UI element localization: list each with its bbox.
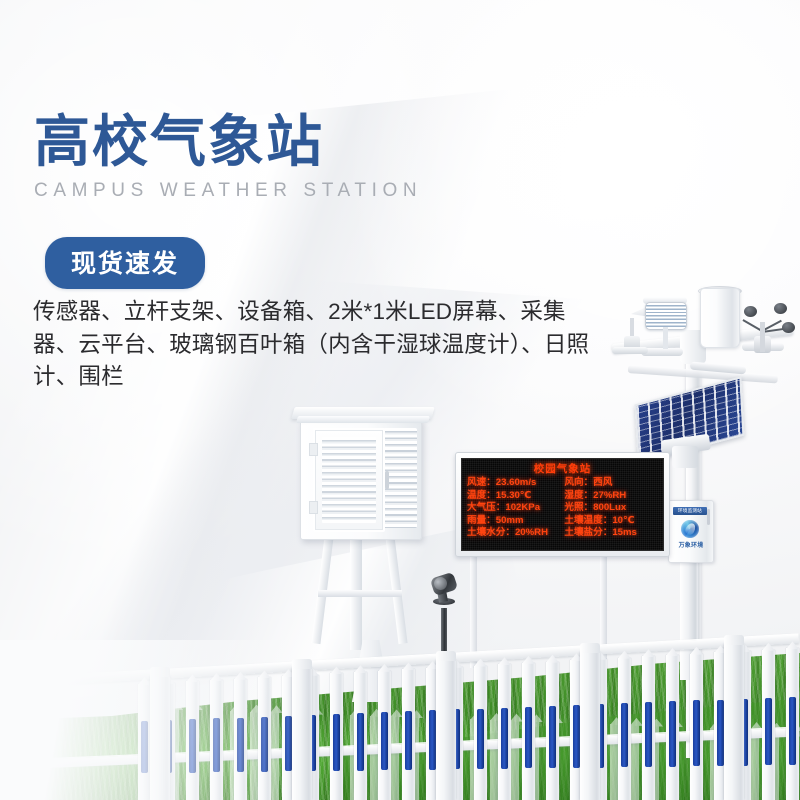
radiation-shield-icon (645, 302, 687, 330)
page-subtitle: CAMPUS WEATHER STATION (34, 180, 422, 202)
led-row: 土壤水分：20%RH 土壤盐分：15ms (467, 527, 658, 540)
fence-picket (690, 654, 703, 800)
led-title: 校园气象站 (467, 462, 658, 476)
louvered-shelter (300, 418, 422, 540)
fence-post (580, 652, 600, 800)
led-value-temperature: 温度：15.30℃ (467, 490, 564, 503)
equipment-cabinet: 环境监测站 万象环境 (668, 500, 714, 563)
wind-vane-base (612, 347, 648, 354)
led-row: 温度：15.30℃ 湿度：27%RH (467, 490, 658, 503)
led-value-soil-temp: 土壤温度：10℃ (564, 515, 658, 528)
anemometer-cup-1 (744, 306, 757, 317)
led-value-soil-moisture: 土壤水分：20%RH (467, 527, 564, 540)
fence-stripe (429, 710, 436, 769)
fence-stripe (549, 706, 556, 768)
led-row: 大气压：102KPa 光照：800Lux (467, 502, 658, 515)
fence-picket (474, 666, 487, 800)
foreground-haze (0, 640, 420, 800)
cabinet-brand: 万象环境 (671, 540, 711, 549)
cabinet-latch (707, 509, 710, 525)
anemometer-cup-3 (782, 322, 795, 333)
led-row: 雨量：50mm 土壤温度：10℃ (467, 515, 658, 528)
led-screen: 校园气象站 风速：23.60m/s 风向：西风 温度：15.30℃ 湿度：27%… (461, 458, 664, 551)
status-badge: 现货速发 (45, 237, 205, 289)
headline-block: 高校气象站 CAMPUS WEATHER STATION (34, 112, 422, 202)
shelter-roof-lower (296, 416, 430, 423)
fence-stripe (669, 701, 676, 766)
fence-picket-back (750, 729, 759, 800)
brand-logo-icon (681, 520, 699, 538)
fence-picket (762, 650, 775, 800)
fence-stripe (621, 703, 628, 767)
fence-stripe (765, 698, 772, 766)
fence-stripe (645, 702, 652, 767)
led-value-wind-speed: 风速：23.60m/s (467, 477, 564, 490)
shelter-door-louvers (322, 437, 376, 523)
fence-picket (546, 662, 559, 800)
fence-stripe (477, 709, 484, 770)
shelter-hinge-bottom (309, 501, 318, 514)
fence-stripe (693, 700, 700, 766)
shelter-door (313, 428, 385, 532)
shelter-handle (385, 471, 389, 489)
led-value-soil-salinity: 土壤盐分：15ms (564, 527, 658, 540)
fence-picket (666, 655, 679, 800)
fence-stripe (525, 707, 532, 769)
anemometer-cup-2 (774, 303, 787, 314)
cabinet-label: 环境监测站 (673, 507, 707, 515)
led-value-illuminance: 光照：800Lux (564, 502, 658, 515)
led-value-wind-dir: 风向：西风 (564, 477, 658, 490)
led-value-rainfall: 雨量：50mm (467, 515, 564, 528)
fence-picket (498, 664, 511, 800)
page-title: 高校气象站 (34, 112, 422, 171)
fence-post (436, 660, 456, 800)
led-display-board: 校园气象站 风速：23.60m/s 风向：西风 温度：15.30℃ 湿度：27%… (455, 452, 670, 557)
solar-panel-bracket (672, 446, 698, 468)
fence-stripe (573, 705, 580, 768)
led-readout-rows: 风速：23.60m/s 风向：西风 温度：15.30℃ 湿度：27%RH 大气压… (467, 477, 658, 540)
fence-stripe (717, 700, 724, 766)
fence-picket (522, 663, 535, 800)
fence-picket (642, 656, 655, 800)
fence-stripe (789, 697, 796, 765)
shelter-hinge-top (309, 443, 318, 456)
product-banner: 高校气象站 CAMPUS WEATHER STATION 现货速发 传感器、立杆… (0, 0, 800, 800)
led-value-humidity: 湿度：27%RH (564, 490, 658, 503)
led-value-pressure: 大气压：102KPa (467, 502, 564, 515)
led-row: 风速：23.60m/s 风向：西风 (467, 477, 658, 490)
fence-post (724, 644, 744, 800)
rain-gauge-icon (700, 288, 740, 348)
fence-picket (786, 648, 799, 800)
fence-stripe (501, 708, 508, 769)
product-description: 传感器、立杆支架、设备箱、2米*1米LED屏幕、采集器、云平台、玻璃钢百叶箱（内… (33, 296, 599, 394)
fence-picket (618, 658, 631, 800)
fence-picket-back (510, 721, 519, 800)
radiation-shield-stem (663, 327, 668, 349)
anemometer-stem (760, 322, 765, 352)
